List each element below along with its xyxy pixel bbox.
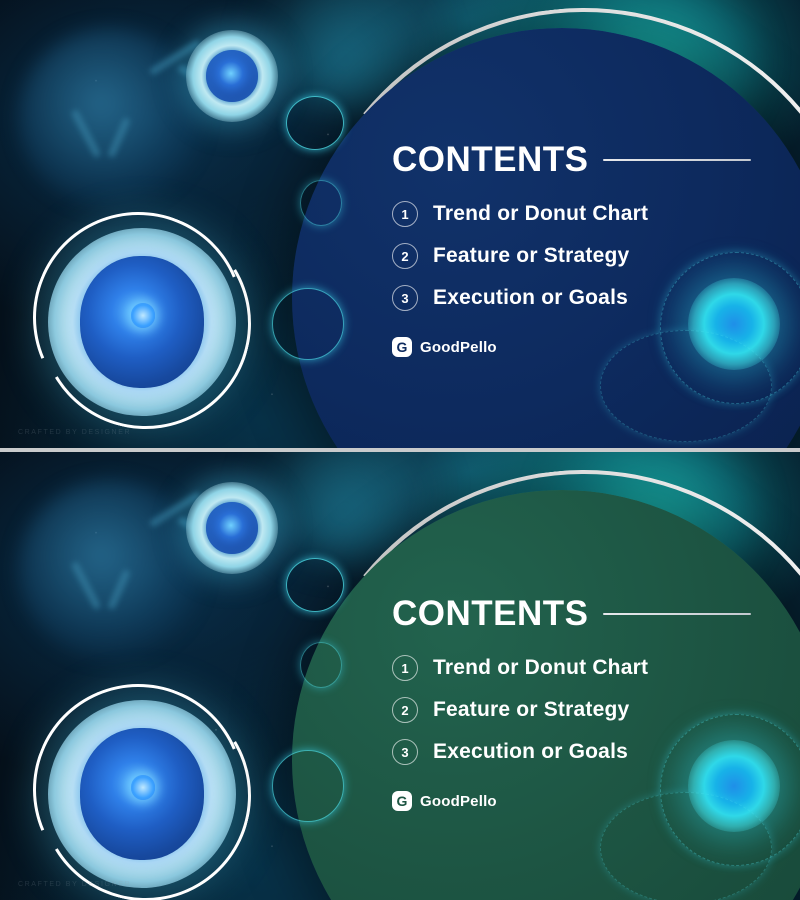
title-row: CONTENTS (392, 142, 751, 177)
logo-badge-icon: G (392, 791, 412, 811)
list-item-number: 2 (392, 243, 418, 269)
list-item-number: 1 (392, 201, 418, 227)
list-item-number: 2 (392, 697, 418, 723)
list-item-label: Feature or Strategy (433, 244, 629, 268)
wispy-cell-outline (272, 288, 344, 360)
page-title: CONTENTS (392, 142, 589, 177)
list-item-number: 3 (392, 285, 418, 311)
logo-wordmark: GoodPello (420, 339, 497, 356)
list-item[interactable]: 1 Trend or Donut Chart (392, 655, 751, 681)
contents-list: 1 Trend or Donut Chart 2 Feature or Stra… (392, 655, 751, 765)
logo-badge-icon: G (392, 337, 412, 357)
list-item-label: Execution or Goals (433, 740, 628, 764)
list-item[interactable]: 2 Feature or Strategy (392, 697, 751, 723)
slide-navy[interactable]: CONTENTS 1 Trend or Donut Chart 2 Featur… (0, 0, 800, 448)
list-item-number: 3 (392, 739, 418, 765)
title-divider (603, 159, 751, 161)
title-row: CONTENTS (392, 596, 751, 631)
title-divider (603, 613, 751, 615)
list-item-label: Feature or Strategy (433, 698, 629, 722)
list-item[interactable]: 3 Execution or Goals (392, 739, 751, 765)
brand-logo[interactable]: G GoodPello (392, 791, 751, 811)
list-item-label: Trend or Donut Chart (433, 656, 648, 680)
wispy-cell-outline (300, 180, 342, 226)
panel-content: CONTENTS 1 Trend or Donut Chart 2 Featur… (392, 596, 751, 811)
logo-letter: G (397, 794, 408, 808)
slide-deck: CONTENTS 1 Trend or Donut Chart 2 Featur… (0, 0, 800, 900)
list-item-label: Trend or Donut Chart (433, 202, 648, 226)
list-item[interactable]: 2 Feature or Strategy (392, 243, 751, 269)
list-item[interactable]: 3 Execution or Goals (392, 285, 751, 311)
list-item-number: 1 (392, 655, 418, 681)
list-item[interactable]: 1 Trend or Donut Chart (392, 201, 751, 227)
panel-content: CONTENTS 1 Trend or Donut Chart 2 Featur… (392, 142, 751, 357)
wispy-cell-outline (272, 750, 344, 822)
logo-letter: G (397, 340, 408, 354)
page-title: CONTENTS (392, 596, 589, 631)
glowing-cell-small (186, 30, 278, 122)
logo-wordmark: GoodPello (420, 793, 497, 810)
watermark: CRAFTED BY DESIGNER (18, 881, 131, 888)
list-item-label: Execution or Goals (433, 286, 628, 310)
glowing-cell-small (186, 482, 278, 574)
watermark: CRAFTED BY DESIGNER (18, 429, 131, 436)
wispy-cell-outline (300, 642, 342, 688)
contents-list: 1 Trend or Donut Chart 2 Feature or Stra… (392, 201, 751, 311)
brand-logo[interactable]: G GoodPello (392, 337, 751, 357)
wispy-cell-outline (286, 96, 344, 150)
wispy-cell-outline (286, 558, 344, 612)
slide-green[interactable]: CONTENTS 1 Trend or Donut Chart 2 Featur… (0, 452, 800, 900)
